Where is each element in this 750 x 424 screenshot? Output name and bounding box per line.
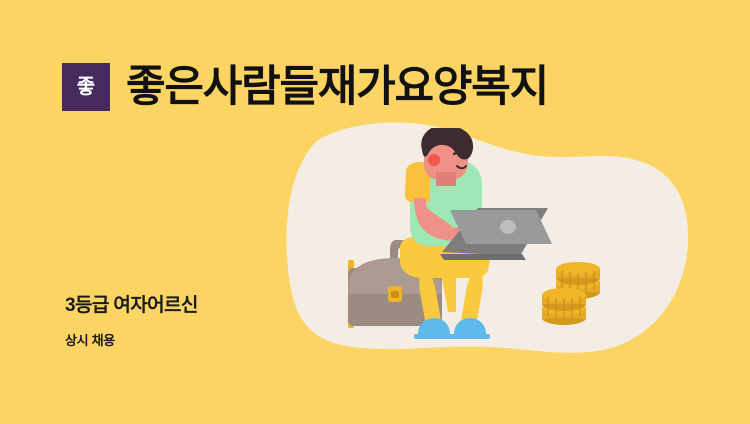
laptop-icon [440, 208, 552, 260]
man-working-on-laptop-illustration [330, 128, 620, 360]
hiring-status-label: 상시 채용 [65, 334, 198, 347]
promo-banner: 좋 좋은사람들재가요양복지 3등급 여자어르신 상시 채용 [0, 0, 750, 424]
brand-mark-character: 좋 [77, 77, 95, 97]
job-details: 3등급 여자어르신 상시 채용 [65, 296, 198, 347]
page-title: 좋은사람들재가요양복지 [126, 66, 548, 109]
shoes-icon [414, 318, 490, 339]
service-grade-label: 3등급 여자어르신 [65, 296, 198, 315]
coin-stacks-icon [542, 262, 600, 325]
brand-header: 좋 좋은사람들재가요양복지 [62, 63, 548, 111]
brand-mark-icon: 좋 [62, 63, 110, 111]
